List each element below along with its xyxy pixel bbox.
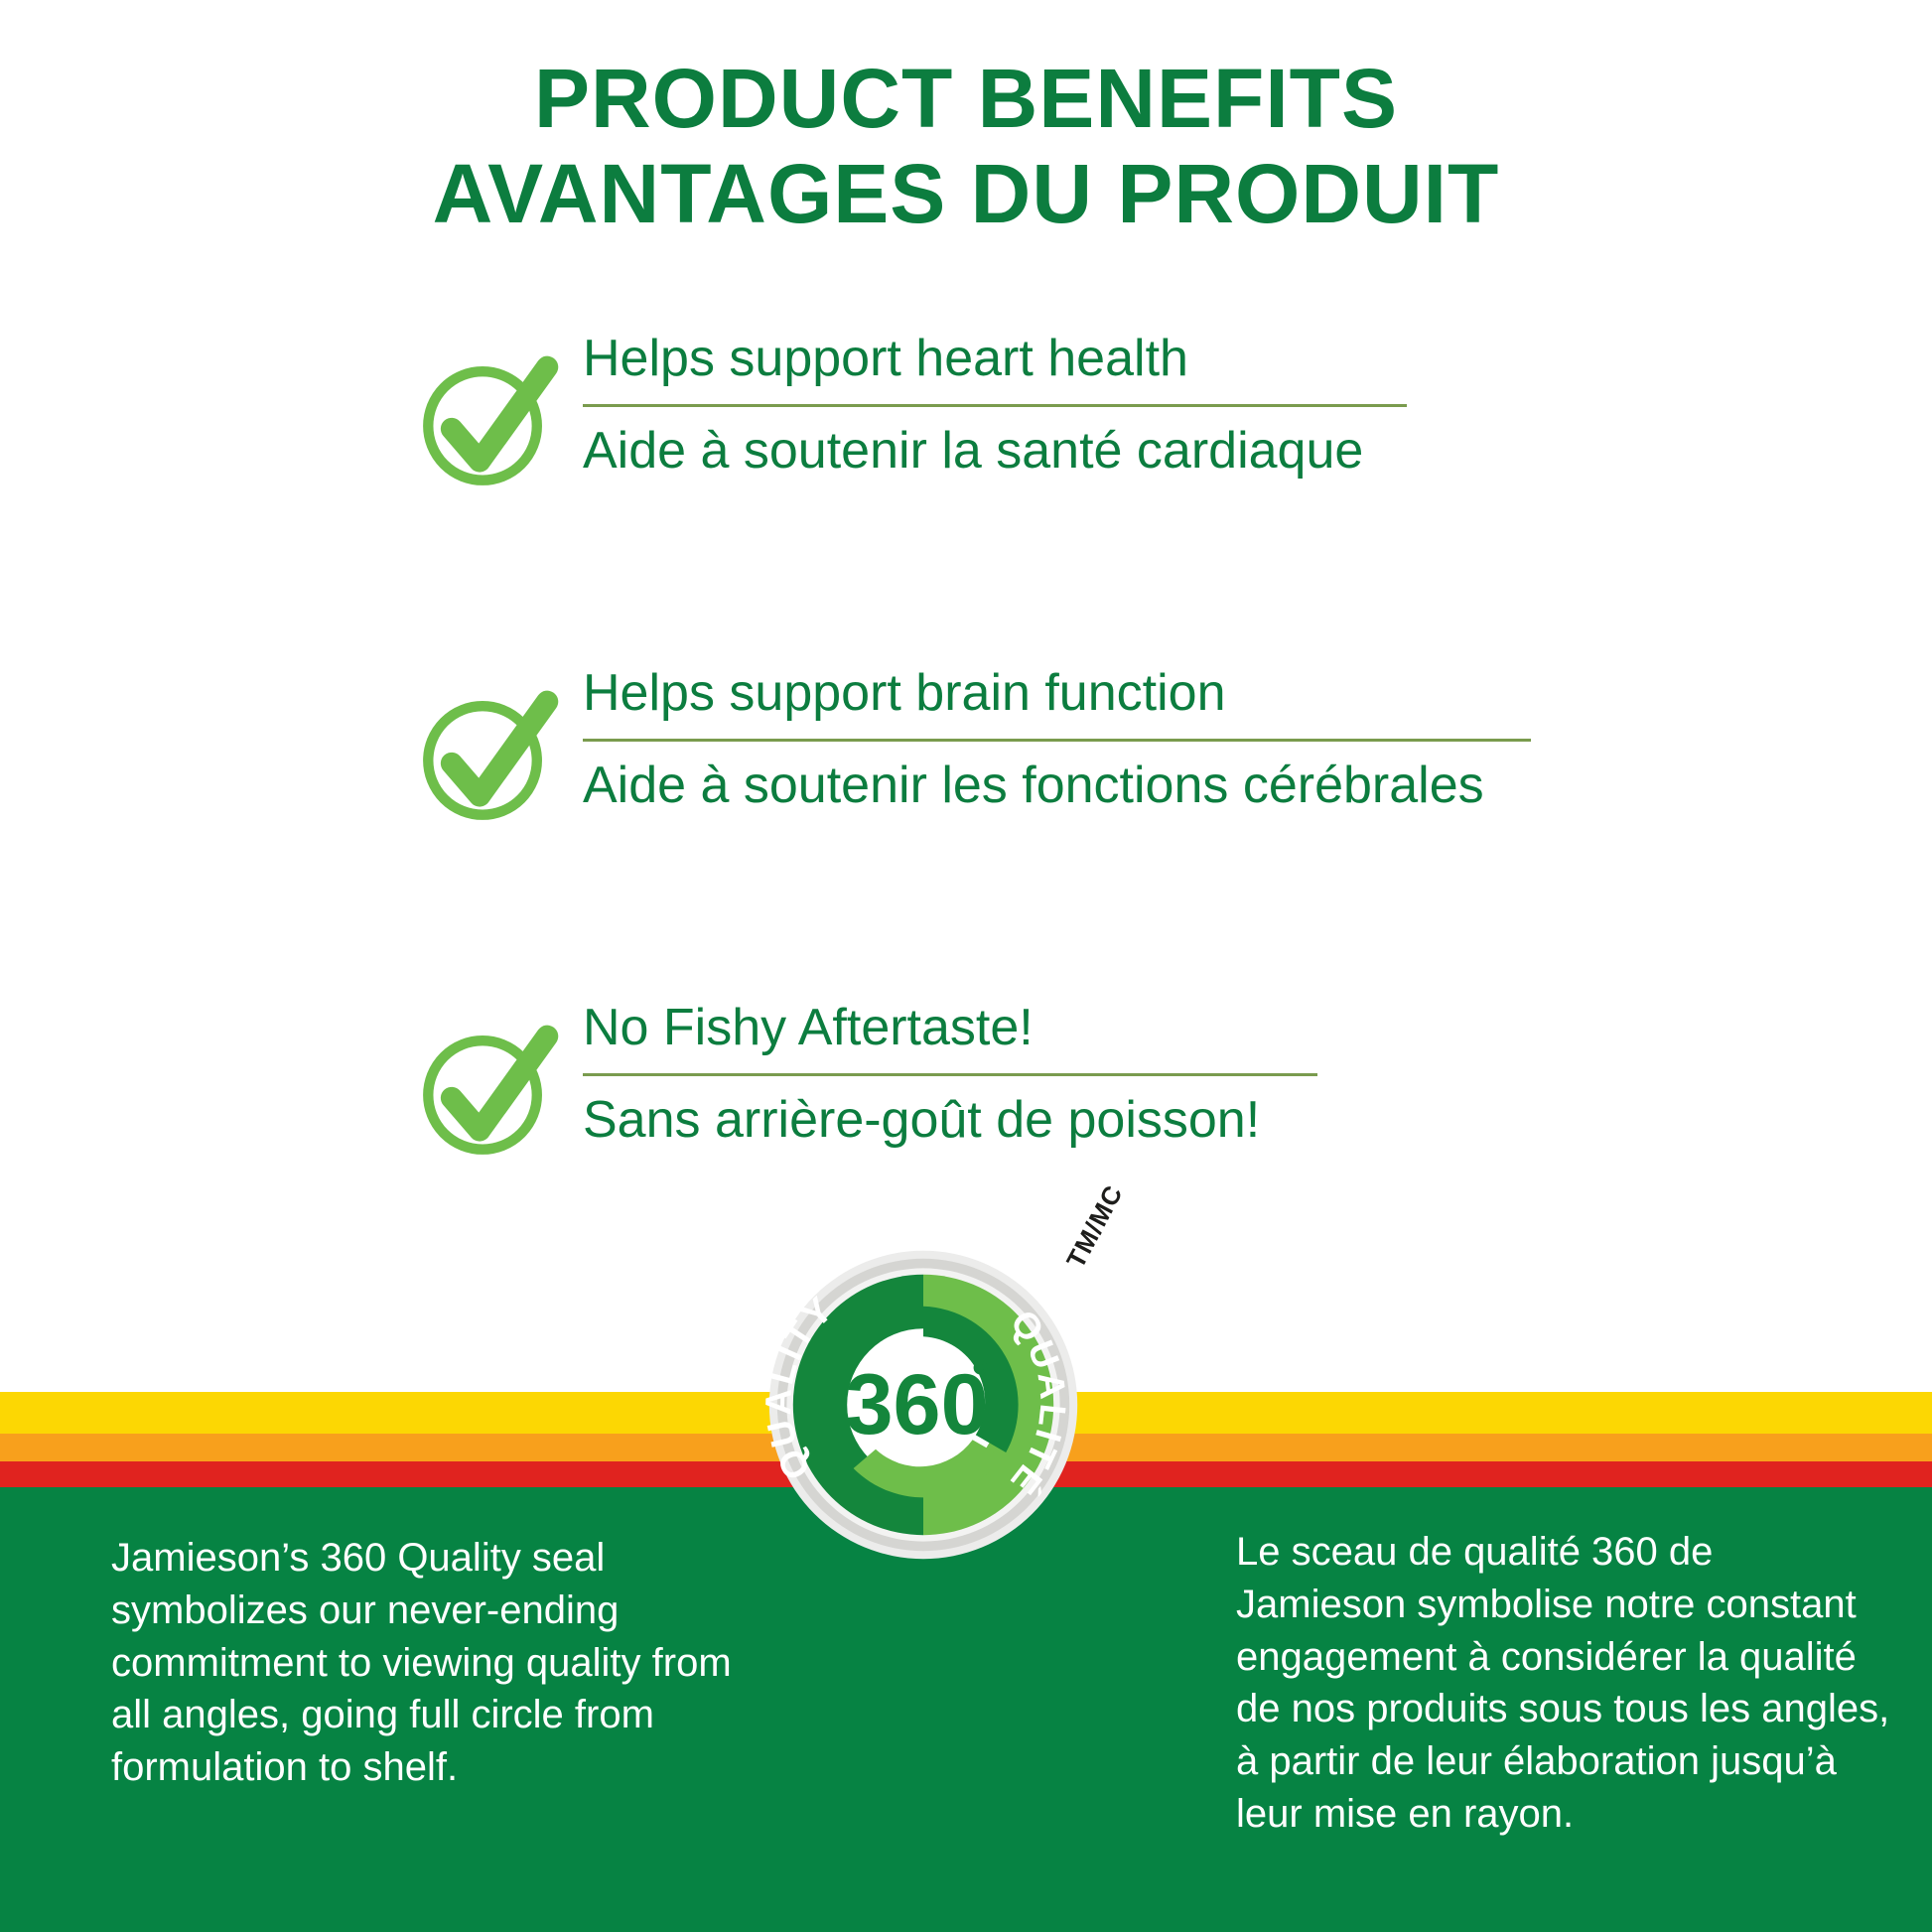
benefit-item: No Fishy Aftertaste! Sans arrière-goût d…	[412, 997, 1603, 1166]
check-circle-icon	[412, 997, 561, 1166]
seal-degree-symbol: °	[972, 1352, 990, 1402]
benefit-divider	[583, 1073, 1317, 1076]
seal-center-value: 360	[846, 1357, 989, 1452]
check-circle-icon	[412, 328, 561, 496]
benefit-text-group: Helps support brain function Aide à sout…	[561, 662, 1603, 814]
benefit-label-english: Helps support brain function	[583, 664, 1603, 722]
benefit-item: Helps support brain function Aide à sout…	[412, 662, 1603, 831]
page-title: PRODUCT BENEFITS AVANTAGES DU PRODUIT	[0, 52, 1932, 242]
seal-description-french: Le sceau de qualité 360 de Jamieson symb…	[1236, 1526, 1891, 1841]
benefit-label-english: No Fishy Aftertaste!	[583, 999, 1603, 1056]
benefit-label-french: Aide à soutenir la santé cardiaque	[583, 422, 1603, 480]
benefit-divider	[583, 739, 1531, 742]
seal-trademark-label: TM/MC	[1060, 1179, 1130, 1273]
benefit-text-group: No Fishy Aftertaste! Sans arrière-goût d…	[561, 997, 1603, 1149]
quality-360-seal-icon: 360 ° QUALITY QUALITÉ	[764, 1246, 1082, 1564]
page-title-french: AVANTAGES DU PRODUIT	[0, 147, 1932, 242]
benefit-label-french: Aide à soutenir les fonctions cérébrales	[583, 757, 1603, 814]
benefit-text-group: Helps support heart health Aide à souten…	[561, 328, 1603, 480]
benefit-divider	[583, 404, 1407, 407]
benefit-label-french: Sans arrière-goût de poisson!	[583, 1091, 1603, 1149]
benefit-item: Helps support heart health Aide à souten…	[412, 328, 1603, 496]
page-title-english: PRODUCT BENEFITS	[0, 52, 1932, 147]
check-circle-icon	[412, 662, 561, 831]
benefits-list: Helps support heart health Aide à souten…	[412, 328, 1603, 1166]
product-benefits-page: PRODUCT BENEFITS AVANTAGES DU PRODUIT He…	[0, 0, 1932, 1932]
benefit-label-english: Helps support heart health	[583, 330, 1603, 387]
seal-description-english: Jamieson’s 360 Quality seal symbolizes o…	[111, 1532, 747, 1794]
